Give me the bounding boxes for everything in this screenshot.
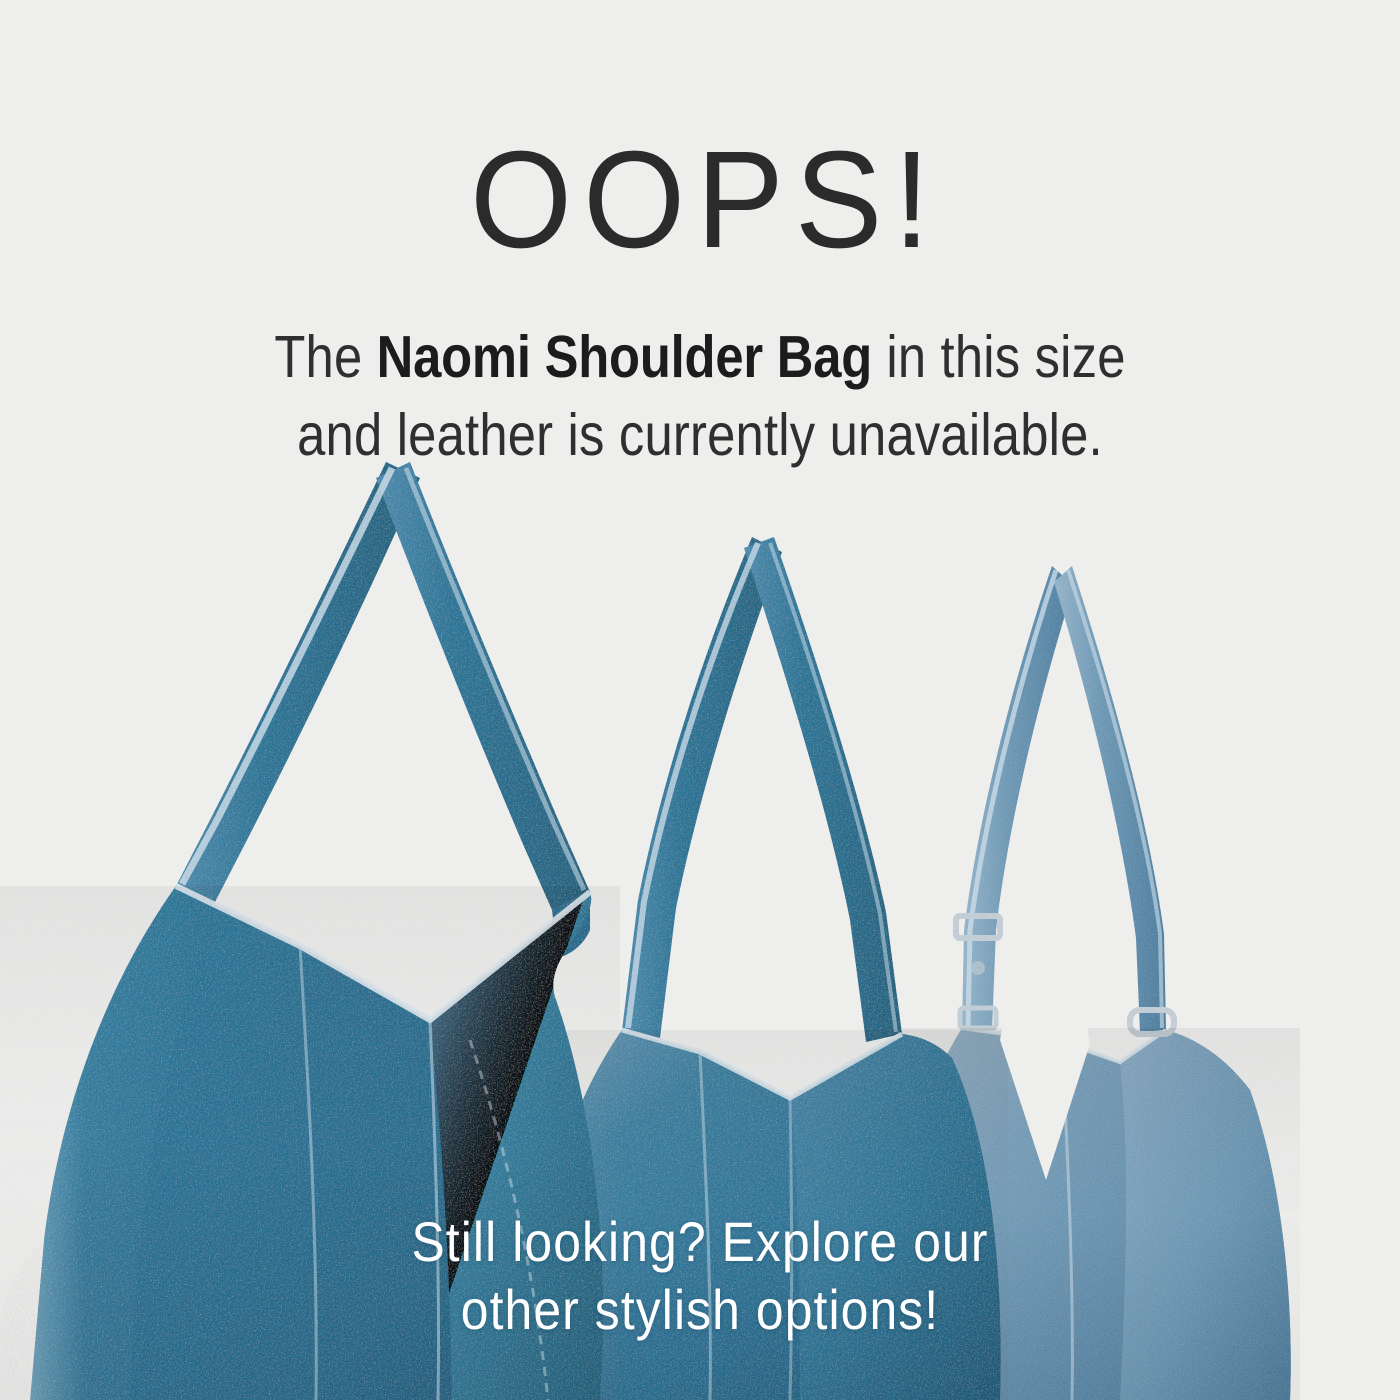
explore-prompt-line-two: other stylish options! <box>461 1278 939 1341</box>
product-name: Naomi Shoulder Bag <box>377 324 872 390</box>
message-lead: The <box>274 324 376 390</box>
message-line-two: and leather is currently unavailable. <box>297 402 1103 468</box>
unavailable-message: The Naomi Shoulder Bag in this size and … <box>98 318 1302 475</box>
out-of-stock-page: OOPS! The Naomi Shoulder Bag in this siz… <box>0 0 1400 1400</box>
page-title: OOPS! <box>35 128 1365 273</box>
explore-prompt: Still looking? Explore our other stylish… <box>77 1208 1323 1345</box>
message-tail: in this size <box>872 324 1126 390</box>
explore-prompt-line-one: Still looking? Explore our <box>411 1210 988 1273</box>
